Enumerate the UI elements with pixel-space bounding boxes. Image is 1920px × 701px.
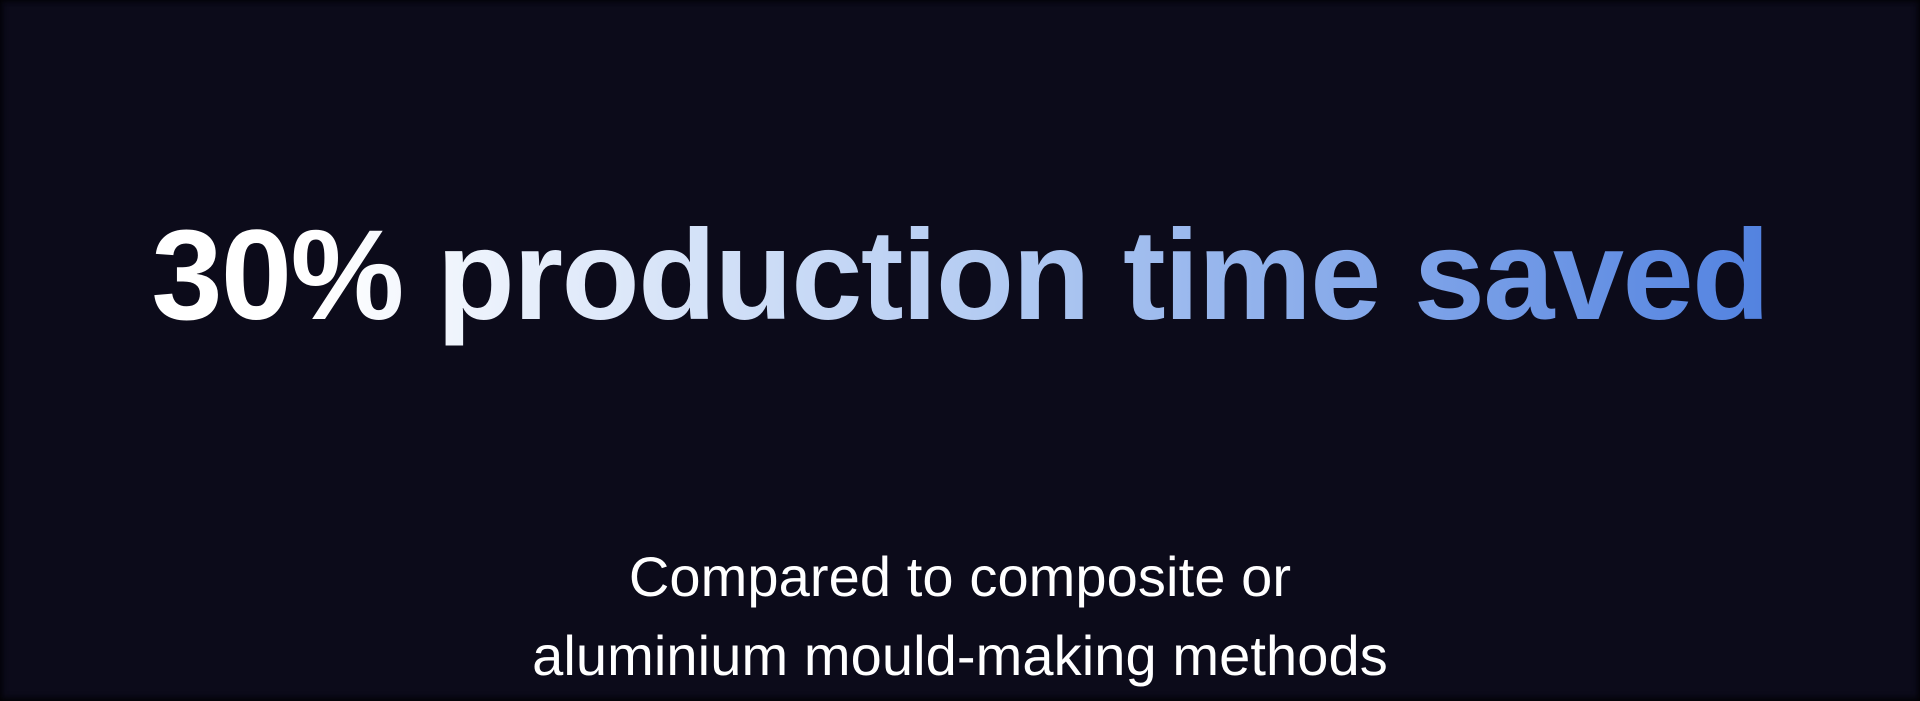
headline-stat: 30% production time saved <box>151 204 1768 347</box>
headline-container: 30% production time saved <box>0 118 1920 433</box>
subtitle-line-2: aluminium mould-making methods <box>532 616 1388 696</box>
stat-banner: 30% production time saved Compared to co… <box>0 0 1920 701</box>
subtitle-container: Compared to composite or aluminium mould… <box>0 481 1920 701</box>
subtitle-line-1: Compared to composite or <box>532 537 1388 617</box>
subtitle-text: Compared to composite or aluminium mould… <box>532 537 1388 696</box>
